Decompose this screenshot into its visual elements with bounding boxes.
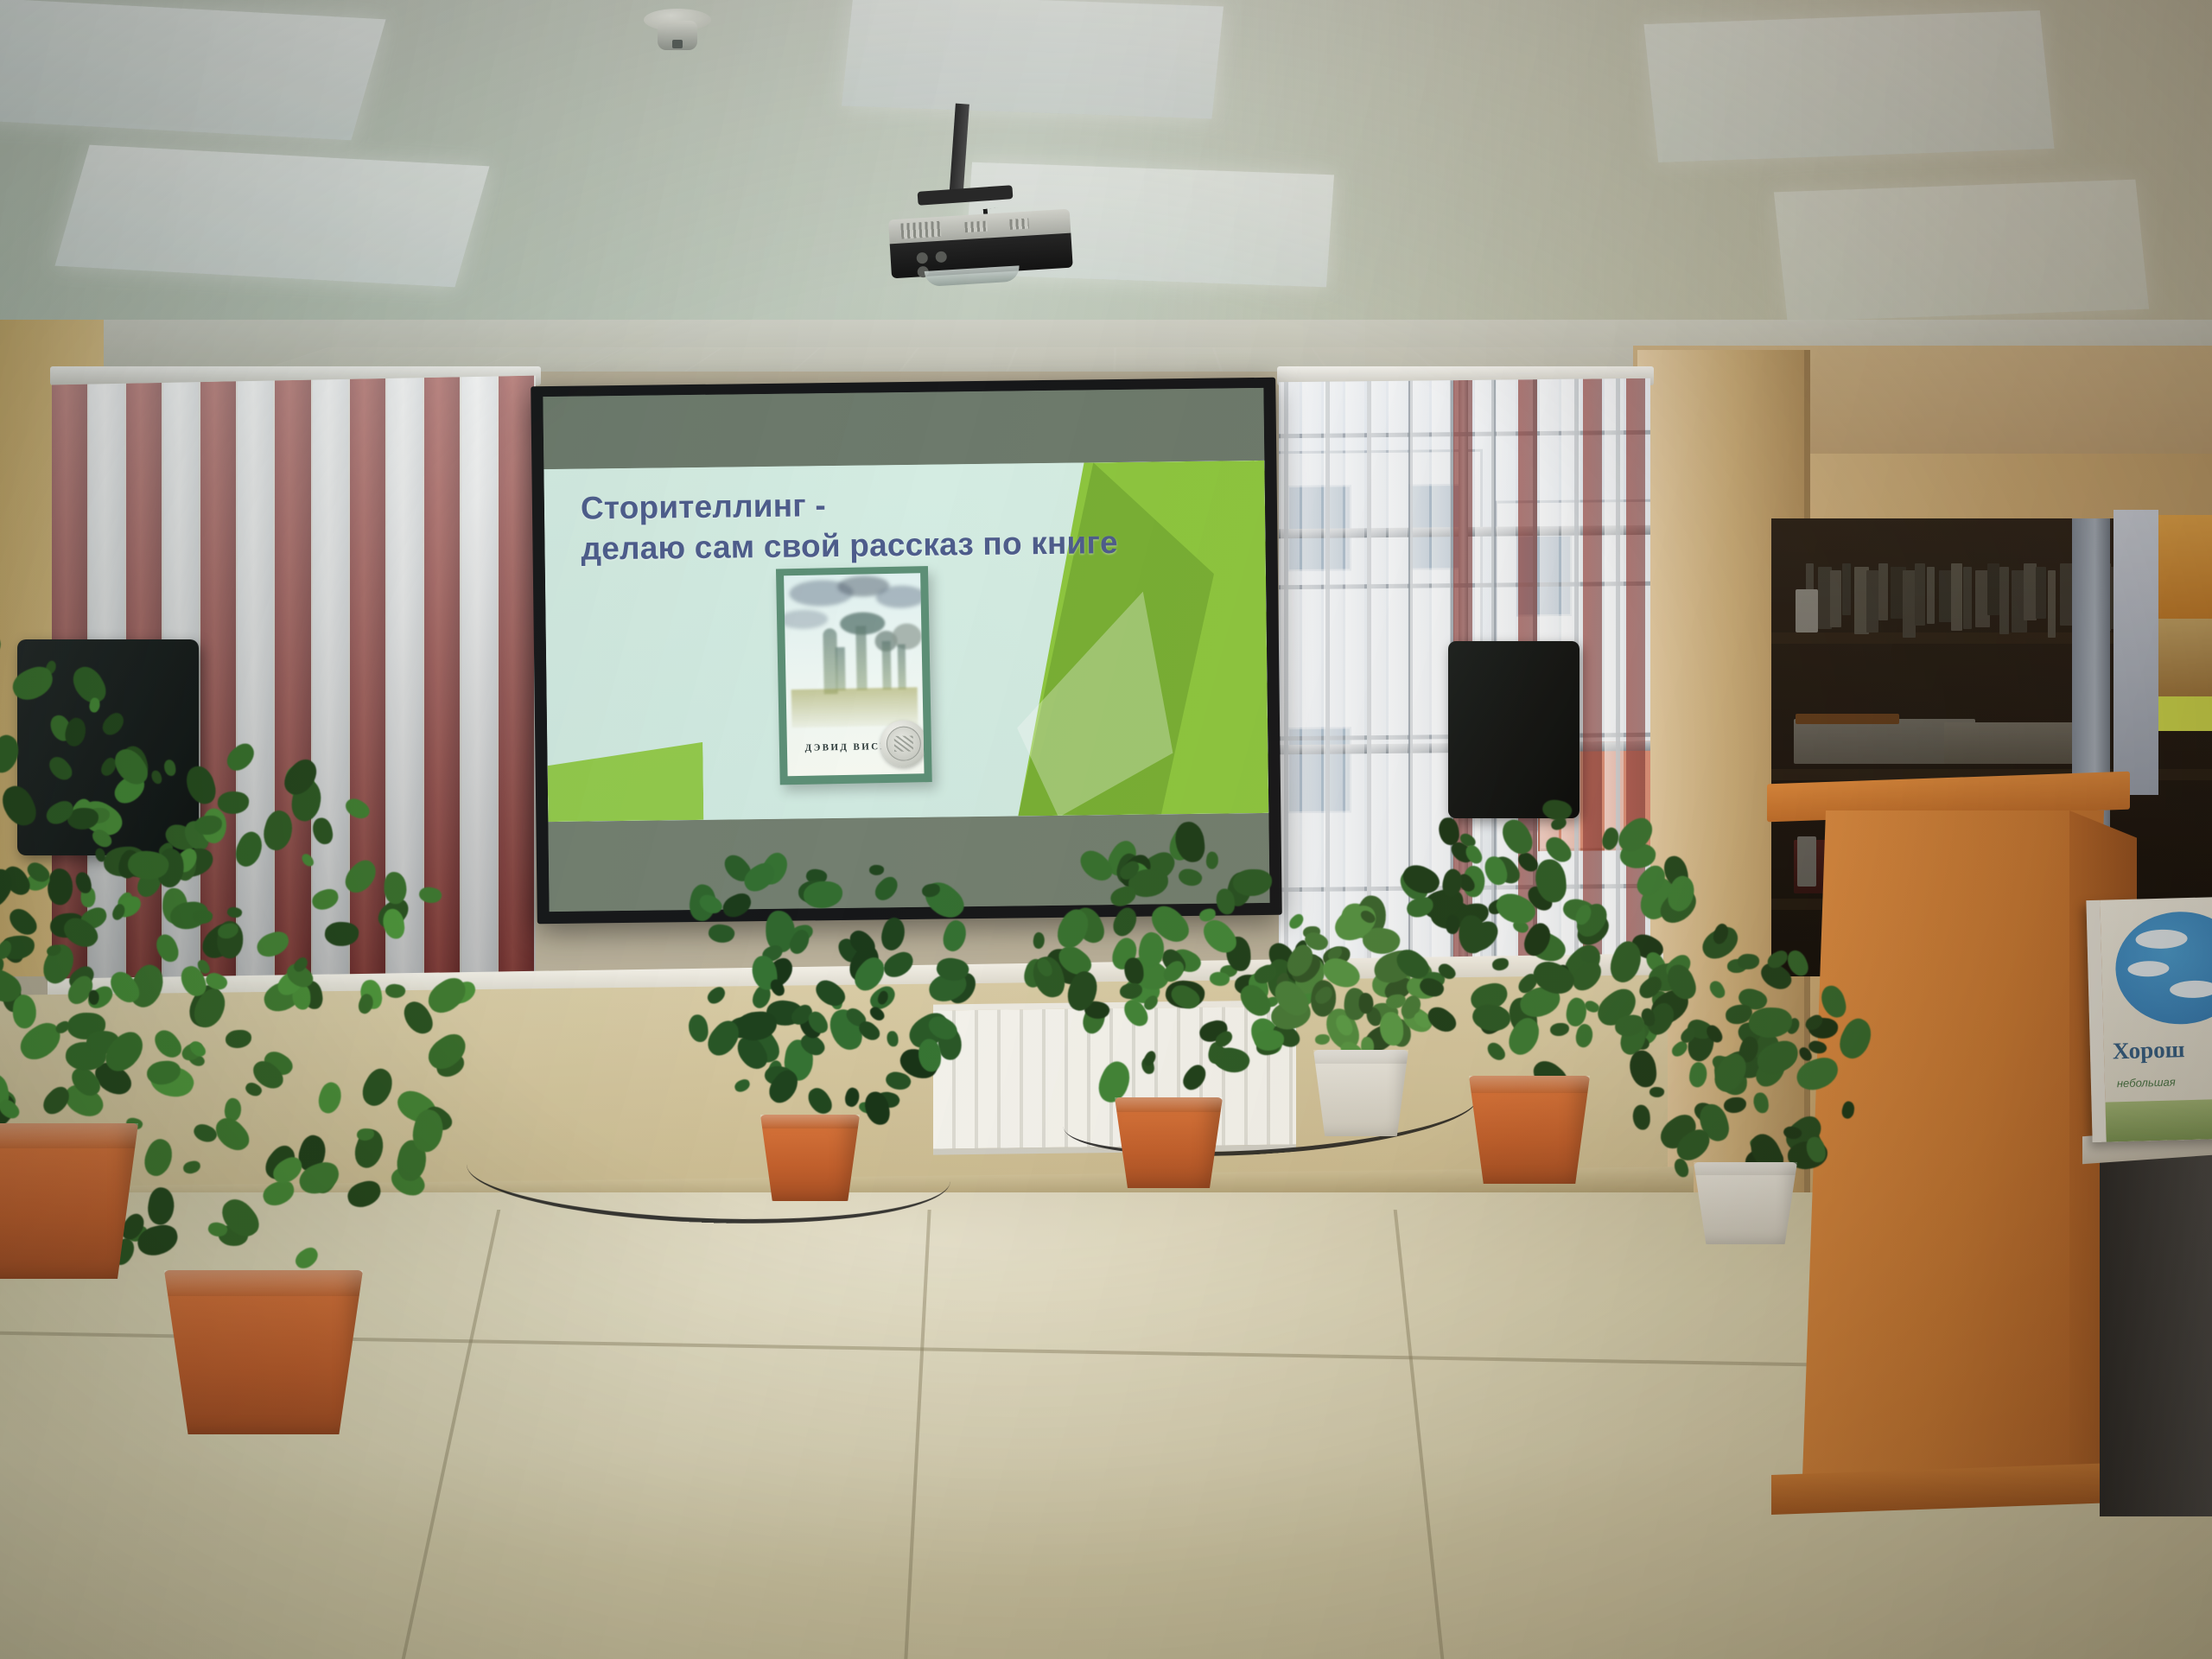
leaf bbox=[1834, 1014, 1877, 1063]
room-photo-scene: Сторителлинг - делаю сам свой рассказ по… bbox=[0, 0, 2212, 1659]
leaf bbox=[1636, 973, 1666, 1001]
leaf bbox=[1840, 1100, 1856, 1120]
leaf bbox=[1628, 1049, 1658, 1089]
leaf bbox=[1737, 953, 1760, 970]
leaf bbox=[1752, 1092, 1770, 1115]
pot-rim bbox=[1688, 1162, 1802, 1175]
leaf bbox=[1723, 1097, 1746, 1115]
leaf bbox=[1688, 1061, 1710, 1089]
plant-pot bbox=[1694, 1162, 1797, 1244]
leaf bbox=[1707, 978, 1727, 1001]
plant-foliage bbox=[0, 0, 2212, 1659]
leaf bbox=[1818, 982, 1848, 1020]
leaf bbox=[1633, 1105, 1651, 1130]
leaf bbox=[1614, 1014, 1646, 1038]
leaf bbox=[1649, 1087, 1664, 1099]
leaf bbox=[1793, 1054, 1842, 1095]
leaf bbox=[1748, 1007, 1792, 1039]
